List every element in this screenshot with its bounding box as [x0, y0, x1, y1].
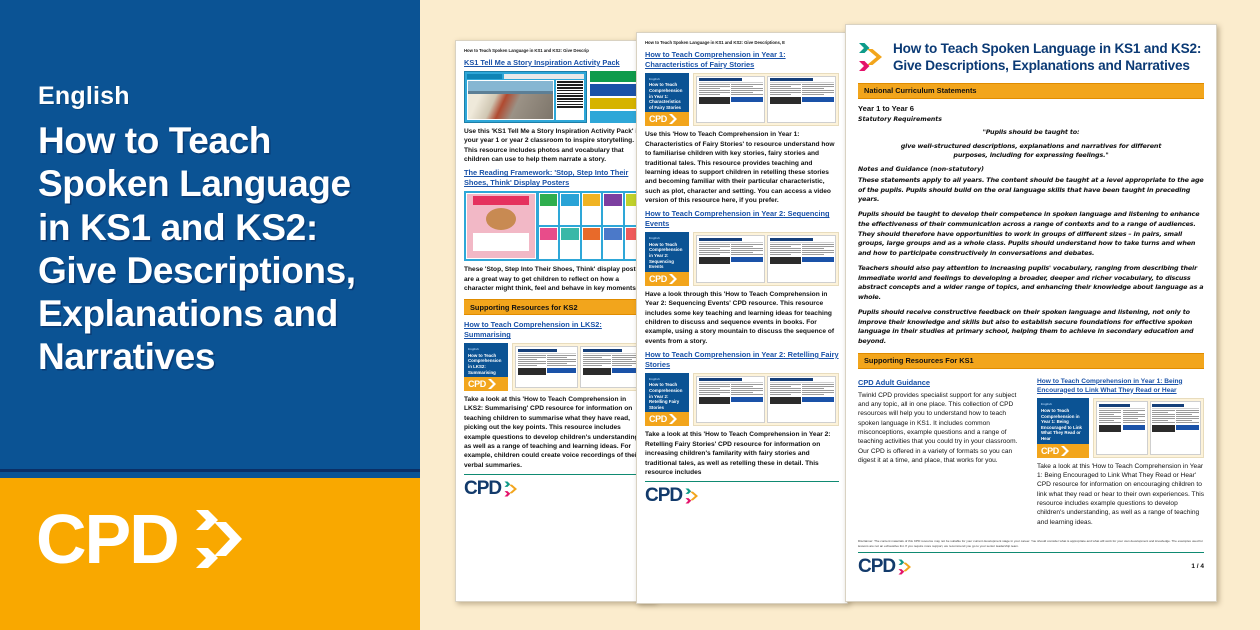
doc1-footer-rule [858, 552, 1204, 553]
doc1-body-right: Take a look at this 'How to Teach Compre… [1037, 462, 1204, 528]
double-chevron-icon [685, 488, 699, 504]
doc3-body-display-posters: These 'Stop, Step Into Their Shoes, Thin… [464, 265, 646, 293]
doc2-running-header: How to Teach Spoken Language in KS1 and … [645, 40, 839, 45]
doc3-running-header: How to Teach Spoken Language in KS1 and … [464, 48, 646, 53]
cover-brand: CPD [468, 379, 486, 389]
doc3-link-activity-pack[interactable]: KS1 Tell Me a Story Inspiration Activity… [464, 58, 646, 68]
doc1-quote-bullet: give well-structured descriptions, expla… [858, 142, 1204, 161]
screenshot-root: English How to Teach Spoken Language in … [0, 0, 1260, 630]
doc2-resource-thumbnail-3: English How to Teach Comprehension in Ye… [645, 373, 839, 427]
doc1-notes-label: Notes and Guidance (non-statutory) [858, 166, 1204, 173]
cover-title: How to Teach Comprehension in Year 1: Ch… [649, 82, 686, 110]
hero-title: How to Teach Spoken Language in KS1 and … [38, 119, 388, 379]
cover-eyebrow: English [1041, 402, 1086, 406]
doc2-link-fairy-stories[interactable]: How to Teach Comprehension in Year 1: Ch… [645, 50, 839, 70]
resource-page-previews [512, 343, 646, 391]
doc1-two-column-area: CPD Adult Guidance Twinkl CPD provides s… [858, 374, 1204, 531]
cover-brand: CPD [649, 274, 667, 284]
cover-eyebrow: English [649, 77, 686, 81]
cover-brand: CPD [1041, 446, 1059, 456]
doc1-footer: CPD 1 / 4 [858, 558, 1204, 581]
cover-eyebrow: English [649, 236, 686, 240]
doc2-footer-rule [645, 481, 839, 482]
doc1-title: How to Teach Spoken Language in KS1 and … [893, 40, 1204, 75]
cover-eyebrow: English [649, 377, 686, 381]
doc1-para-3: Teachers should also pay attention to in… [858, 264, 1204, 303]
doc1-cpd-wordmark: CPD [858, 558, 895, 575]
doc2-body-2: Have a look through this 'How to Teach C… [645, 290, 839, 346]
cover-title: How to Teach Comprehension in Year 2: Re… [649, 382, 686, 410]
doc2-body-1: Use this 'How to Teach Comprehension in … [645, 130, 839, 205]
doc1-year-range: Year 1 to Year 6 [858, 104, 1204, 113]
doc1-cpd-logo: CPD [858, 558, 912, 575]
poster-large [466, 193, 536, 259]
chevron-icon [669, 114, 678, 124]
document-preview-page-2[interactable]: How to Teach Spoken Language in KS1 and … [636, 32, 848, 604]
doc1-link-cpd-adult-guidance[interactable]: CPD Adult Guidance [858, 378, 1025, 388]
doc3-link-display-posters[interactable]: The Reading Framework: 'Stop, Step Into … [464, 168, 646, 188]
resource-cover: English How to Teach Comprehension in Ye… [1037, 398, 1089, 457]
resource-page-previews [693, 373, 839, 427]
double-chevron-icon [898, 559, 912, 575]
doc2-cpd-wordmark: CPD [645, 487, 682, 504]
doc2-cpd-logo: CPD [645, 487, 699, 504]
doc2-link-retelling-fairy-stories[interactable]: How to Teach Comprehension in Year 2: Re… [645, 350, 839, 370]
chevron-icon [669, 414, 678, 424]
doc1-disclaimer: Disclaimer: The content materials of thi… [858, 539, 1204, 548]
cover-title: How to Teach Comprehension in Year 2: Se… [649, 242, 686, 270]
doc1-quote-intro: "Pupils should be taught to: [858, 128, 1204, 138]
word-list [556, 80, 584, 120]
activity-pack-thumbnail [464, 71, 646, 123]
doc2-resource-thumbnail-2: English How to Teach Comprehension in Ye… [645, 232, 839, 286]
double-chevron-icon [192, 508, 252, 570]
doc1-para-4: Pupils should receive constructive feedb… [858, 308, 1204, 347]
doc3-resource-thumbnail-summarising: English How to Teach Comprehension in LK… [464, 343, 646, 391]
doc1-page-number: 1 / 4 [1191, 563, 1204, 570]
doc2-link-sequencing-events[interactable]: How to Teach Comprehension in Year 2: Se… [645, 209, 839, 229]
doc1-resource-thumbnail: English How to Teach Comprehension in Ye… [1037, 398, 1204, 457]
doc1-right-column: How to Teach Comprehension in Year 1: Be… [1037, 374, 1204, 531]
doc1-left-column: CPD Adult Guidance Twinkl CPD provides s… [858, 374, 1025, 531]
resource-cover: English How to Teach Comprehension in Ye… [645, 232, 689, 286]
double-chevron-icon [858, 42, 884, 72]
resource-page-previews [1093, 398, 1204, 457]
hero-subject-label: English [38, 84, 388, 109]
hero-cpd-logo: CPD [36, 508, 252, 570]
doc1-para-1: These statements apply to all years. The… [858, 176, 1204, 205]
resource-cover: English How to Teach Comprehension in LK… [464, 343, 508, 391]
doc3-body-activity-pack: Use this 'KS1 Tell Me a Story Inspiratio… [464, 127, 646, 164]
doc2-footer: CPD [645, 487, 839, 510]
cover-brand: CPD [649, 414, 667, 424]
display-posters-thumbnail [464, 191, 646, 261]
chevron-icon [1061, 446, 1070, 456]
resource-cover: English How to Teach Comprehension in Ye… [645, 73, 689, 127]
doc2-body-3: Take a look at this 'How to Teach Compre… [645, 430, 839, 477]
doc3-cpd-wordmark: CPD [464, 480, 501, 497]
doc1-band-curriculum: National Curriculum Statements [858, 83, 1204, 99]
hero-text-group: English How to Teach Spoken Language in … [38, 84, 388, 379]
doc3-band-supporting-ks2: Supporting Resources for KS2 [464, 299, 646, 315]
resource-cover: English How to Teach Comprehension in Ye… [645, 373, 689, 427]
slide-thumbnail [464, 71, 587, 123]
resource-page-previews [693, 232, 839, 286]
cover-brand: CPD [649, 114, 667, 124]
cover-title: How to Teach Comprehension in Year 1: Be… [1041, 408, 1086, 442]
doc3-body-summarising: Take a look at this 'How to Teach Compre… [464, 395, 646, 470]
photo-thumbnail [467, 80, 554, 120]
doc1-body-left: Twinkl CPD provides specialist support f… [858, 391, 1025, 466]
doc1-statutory-label: Statutory Requirements [858, 116, 1204, 123]
doc3-cpd-logo: CPD [464, 480, 518, 497]
doc1-header: How to Teach Spoken Language in KS1 and … [858, 40, 1204, 75]
double-chevron-icon [504, 481, 518, 497]
cover-title: How to Teach Comprehension in LKS2: Summ… [468, 353, 505, 376]
doc3-link-summarising[interactable]: How to Teach Comprehension in LKS2: Summ… [464, 320, 646, 340]
resource-page-previews [693, 73, 839, 127]
hero-panel: English How to Teach Spoken Language in … [0, 0, 420, 630]
doc1-link-year1-comprehension[interactable]: How to Teach Comprehension in Year 1: Be… [1037, 378, 1204, 396]
doc2-resource-thumbnail-1: English How to Teach Comprehension in Ye… [645, 73, 839, 127]
doc1-para-2: Pupils should be taught to develop their… [858, 210, 1204, 259]
doc3-footer-rule [464, 474, 646, 475]
chevron-icon [669, 274, 678, 284]
hero-cpd-wordmark: CPD [36, 511, 178, 567]
doc3-footer: CPD [464, 480, 646, 503]
document-preview-page-3[interactable]: How to Teach Spoken Language in KS1 and … [455, 40, 655, 602]
cover-eyebrow: English [468, 347, 505, 351]
document-preview-page-1[interactable]: How to Teach Spoken Language in KS1 and … [845, 24, 1217, 602]
doc1-band-supporting-ks1: Supporting Resources For KS1 [858, 353, 1204, 369]
chevron-icon [488, 379, 497, 389]
